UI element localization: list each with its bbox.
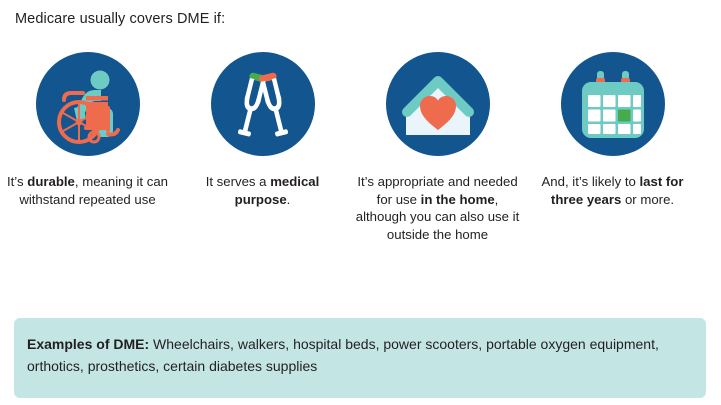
criteria-card-durable: It’s durable, meaning it can withstand r…	[0, 52, 175, 208]
caption-seg-bold: in the home	[421, 192, 495, 207]
home-heart-icon	[386, 52, 490, 156]
examples-callout-box: Examples of DME: Wheelchairs, walkers, h…	[14, 318, 706, 398]
criteria-card-in-the-home: It’s appropriate and needed for use in t…	[350, 52, 525, 243]
infographic-page: Medicare usually covers DME if:	[0, 0, 721, 405]
examples-callout-text: Examples of DME: Wheelchairs, walkers, h…	[27, 334, 692, 377]
examples-label: Examples of DME:	[27, 336, 149, 352]
caption-seg: It serves a	[206, 174, 271, 189]
criteria-card-row: It’s durable, meaning it can withstand r…	[0, 52, 721, 243]
caption-seg: It’s	[7, 174, 27, 189]
criteria-caption: It’s durable, meaning it can withstand r…	[4, 173, 172, 208]
caption-seg: And, it’s likely to	[542, 174, 640, 189]
criteria-caption: And, it’s likely to last for three years…	[529, 173, 697, 208]
criteria-caption: It’s appropriate and needed for use in t…	[354, 173, 522, 243]
caption-seg: or more.	[621, 192, 674, 207]
caption-seg-bold: durable	[27, 174, 75, 189]
page-title: Medicare usually covers DME if:	[15, 10, 225, 28]
caption-seg: .	[287, 192, 291, 207]
criteria-caption: It serves a medical purpose.	[179, 173, 347, 208]
crutches-icon	[211, 52, 315, 156]
criteria-card-medical-purpose: It serves a medical purpose.	[175, 52, 350, 208]
criteria-card-three-years: And, it’s likely to last for three years…	[525, 52, 700, 208]
calendar-icon	[561, 52, 665, 156]
wheelchair-icon	[36, 52, 140, 156]
